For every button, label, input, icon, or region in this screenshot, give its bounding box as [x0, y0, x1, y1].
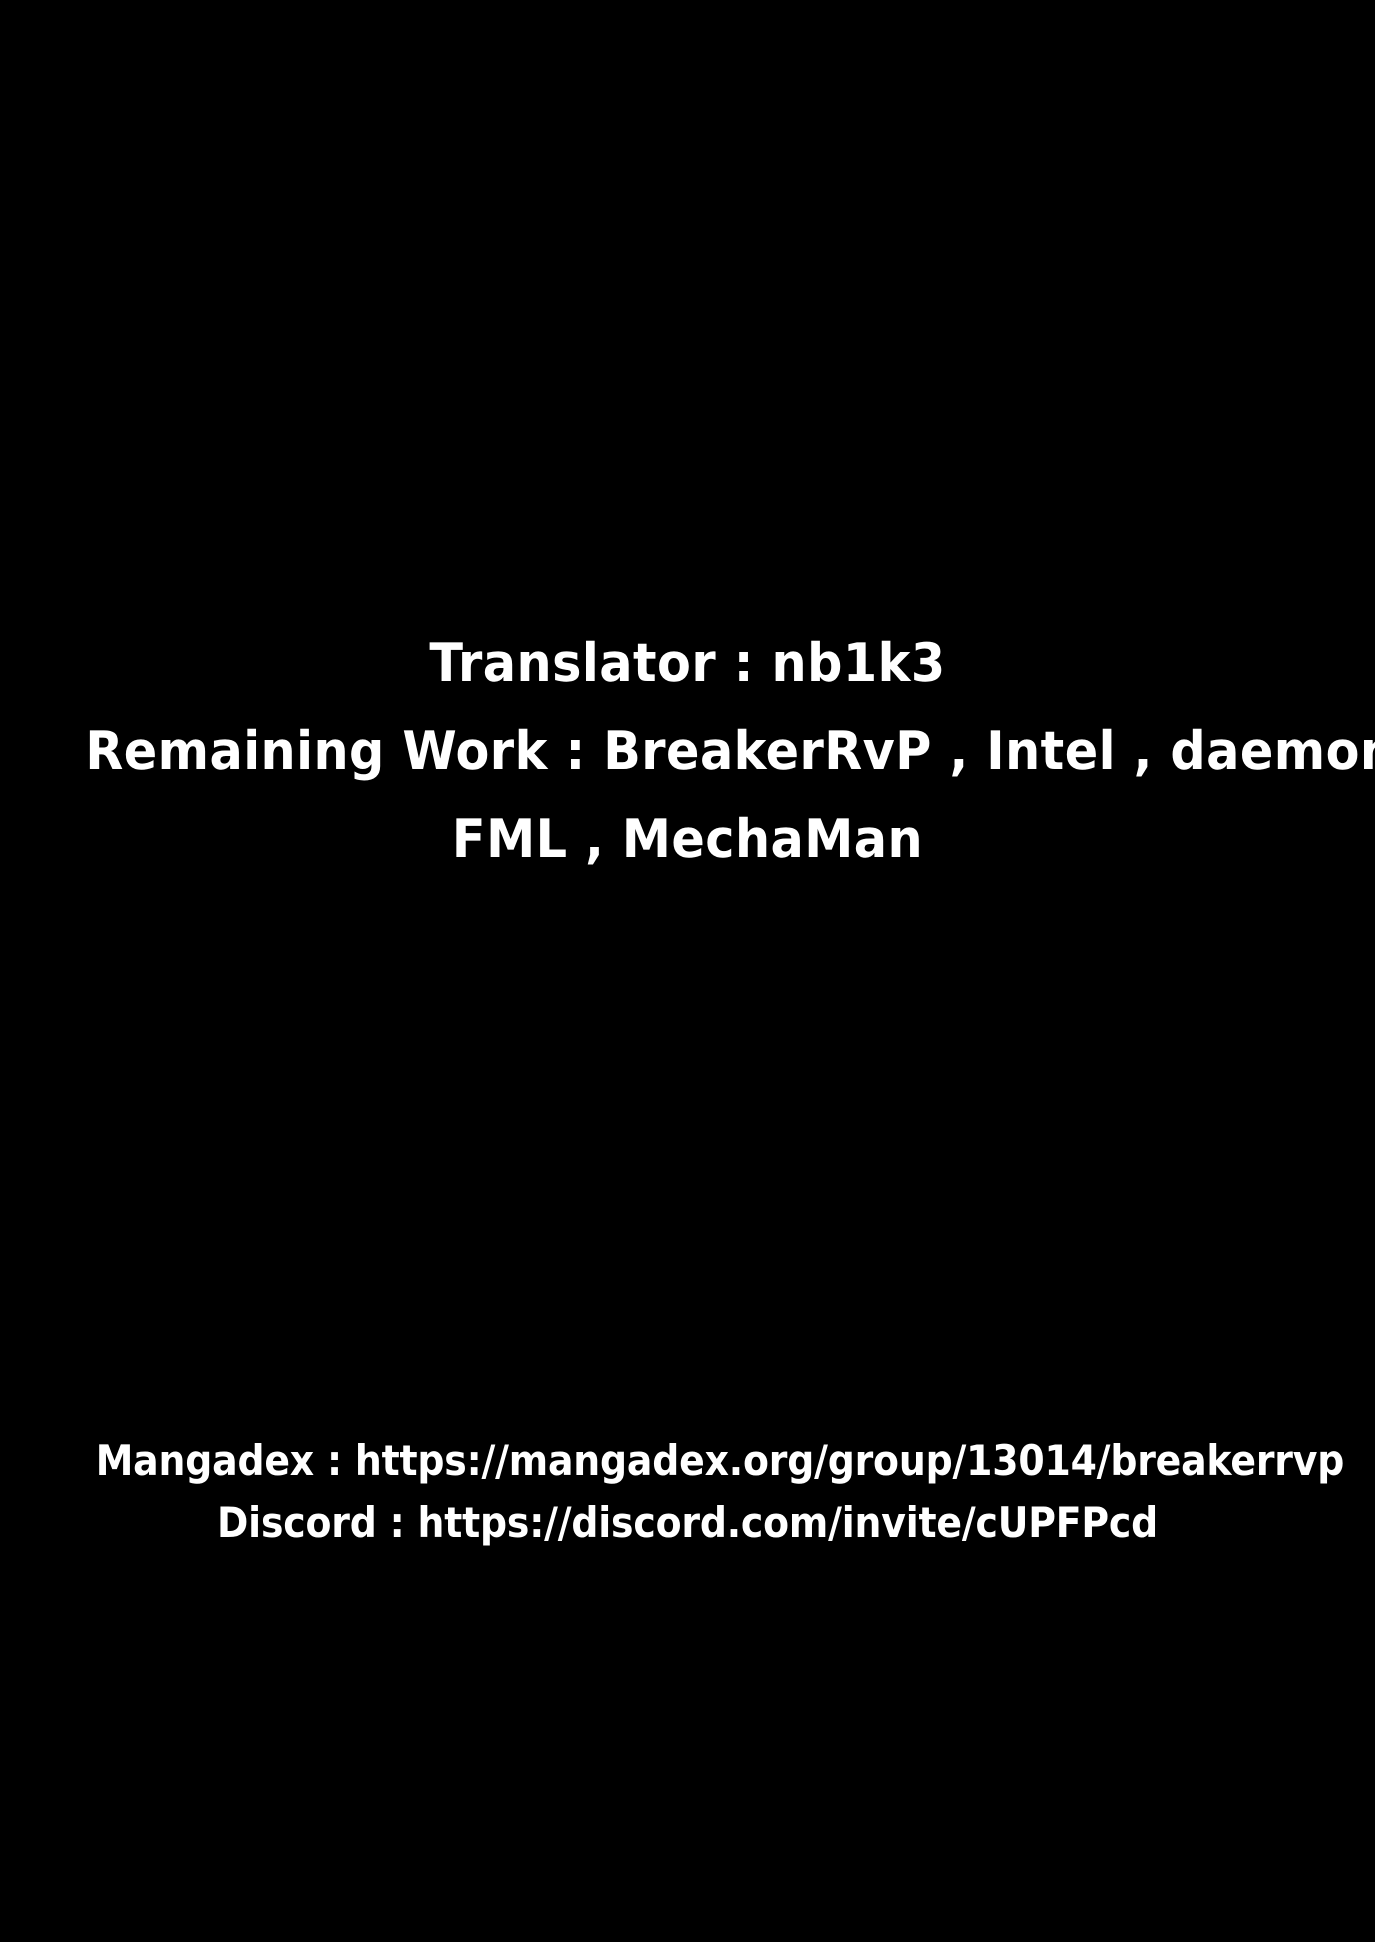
footer-line-mangadex[interactable]: Mangadex : https://mangadex.org/group/13… — [96, 1430, 1280, 1492]
footer-links-block: Mangadex : https://mangadex.org/group/13… — [0, 1430, 1375, 1554]
credits-page: Translator : nb1k3 Remaining Work : Brea… — [0, 0, 1375, 1942]
credits-line-remaining-work-continued: FML , MechaMan — [85, 796, 1289, 884]
credits-line-translator: Translator : nb1k3 — [85, 620, 1289, 708]
credits-line-remaining-work: Remaining Work : BreakerRvP , Intel , da… — [85, 708, 1289, 796]
footer-line-discord[interactable]: Discord : https://discord.com/invite/cUP… — [96, 1492, 1280, 1554]
credits-block: Translator : nb1k3 Remaining Work : Brea… — [0, 620, 1375, 884]
